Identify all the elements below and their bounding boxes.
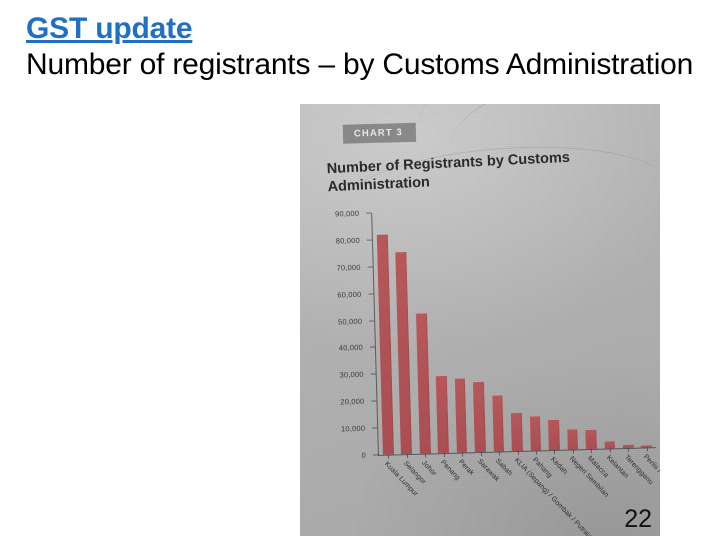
bar-series <box>372 205 656 455</box>
x-axis-tick-mark <box>619 448 638 453</box>
x-axis-tick-mark <box>582 449 601 454</box>
x-axis-label-slot: Perak <box>453 458 471 459</box>
bar <box>492 395 504 452</box>
y-axis-tick-label: 90,000 <box>335 209 366 219</box>
x-axis-tick-mark <box>416 453 435 458</box>
y-axis-tick-label: 10,000 <box>341 424 372 434</box>
x-axis-tick-mark <box>637 447 656 452</box>
x-axis-tick-mark <box>600 448 619 453</box>
page-subtitle: Number of registrants – by Customs Admin… <box>26 47 716 82</box>
x-axis-tick-label: Perak <box>457 459 475 477</box>
x-axis-label-slot: KLIA (Sepang) / Gombak / Putrajaya <box>508 457 526 458</box>
bar <box>548 420 560 450</box>
y-axis-tick-mark <box>372 428 377 429</box>
bar <box>416 314 431 454</box>
x-axis-label-slot: Penang <box>434 459 452 460</box>
x-axis-label-slot: Negeri Sembilan <box>564 455 582 456</box>
x-axis-label-slot: Selangor <box>398 460 416 461</box>
y-axis-tick-label: 40,000 <box>339 343 370 353</box>
y-axis-tick-mark <box>370 347 375 348</box>
bar <box>530 417 542 451</box>
y-axis-tick-mark <box>366 213 371 214</box>
bar <box>377 234 394 455</box>
chart-photograph: CHART 3 Number of Registrants by Customs… <box>300 104 660 536</box>
y-axis-tick-label: 70,000 <box>336 262 367 272</box>
y-axis-tick-label: 30,000 <box>339 370 370 380</box>
x-axis-tick-mark <box>508 451 527 456</box>
y-axis-tick-mark <box>369 320 374 321</box>
y-axis-tick-mark <box>373 454 378 455</box>
slide-page-number: 22 <box>624 505 652 534</box>
x-axis-tick-mark <box>397 454 416 459</box>
bar <box>511 413 523 451</box>
y-axis-tick-label: 50,000 <box>338 316 369 326</box>
x-axis-tick-mark <box>379 454 398 459</box>
y-axis-tick-mark <box>371 401 376 402</box>
printed-page: CHART 3 Number of Registrants by Customs… <box>300 104 660 536</box>
x-axis-label-slot: Perlis / Labuan / Federal Territory <box>638 453 656 454</box>
x-axis-tick-mark <box>471 452 490 457</box>
bar <box>455 379 468 453</box>
x-axis-tick-mark <box>545 450 564 455</box>
y-axis-tick-label: 0 <box>361 451 373 460</box>
x-axis-label-slot: Kedah <box>545 456 563 457</box>
x-axis-label-slot: Sarawak <box>471 458 489 459</box>
bar <box>473 382 486 452</box>
x-axis-tick-mark <box>434 453 453 458</box>
x-axis-tick-mark <box>527 450 546 455</box>
x-axis-label-slot: Malacca <box>582 455 600 456</box>
page-title: GST update <box>26 12 716 46</box>
y-axis-tick-mark <box>368 293 373 294</box>
x-axis-tick-mark <box>564 449 583 454</box>
chart-badge: CHART 3 <box>343 123 416 144</box>
x-axis-label-slot: Terengganu <box>619 454 637 455</box>
y-axis-tick-mark <box>371 374 376 375</box>
x-axis-label-slot: Kuala Lumpur <box>379 460 397 461</box>
slide-heading: GST update Number of registrants – by Cu… <box>26 12 716 82</box>
chart-title: Number of Registrants by Customs Adminis… <box>326 146 637 197</box>
x-axis-label-slot: Pahang <box>527 456 545 457</box>
x-axis-label-slot: Kelantan <box>601 454 619 455</box>
y-axis-tick-label: 20,000 <box>340 397 371 407</box>
x-axis-tick-mark <box>490 451 509 456</box>
bar <box>567 429 578 449</box>
x-axis-label-slot: Johor <box>416 459 434 460</box>
x-axis-tick-mark <box>453 452 472 457</box>
bar-chart: 010,00020,00030,00040,00050,00060,00070,… <box>316 199 653 468</box>
x-axis-label-slot: Sabah <box>490 457 508 458</box>
y-axis-tick-label: 80,000 <box>336 236 367 246</box>
bar <box>585 430 596 449</box>
bar <box>436 376 449 453</box>
x-axis-tick-label: Johor <box>420 460 437 478</box>
y-axis-tick-label: 60,000 <box>337 289 368 299</box>
y-axis-tick-mark <box>368 266 373 267</box>
bar <box>396 252 412 454</box>
y-axis-tick-mark <box>367 239 372 240</box>
